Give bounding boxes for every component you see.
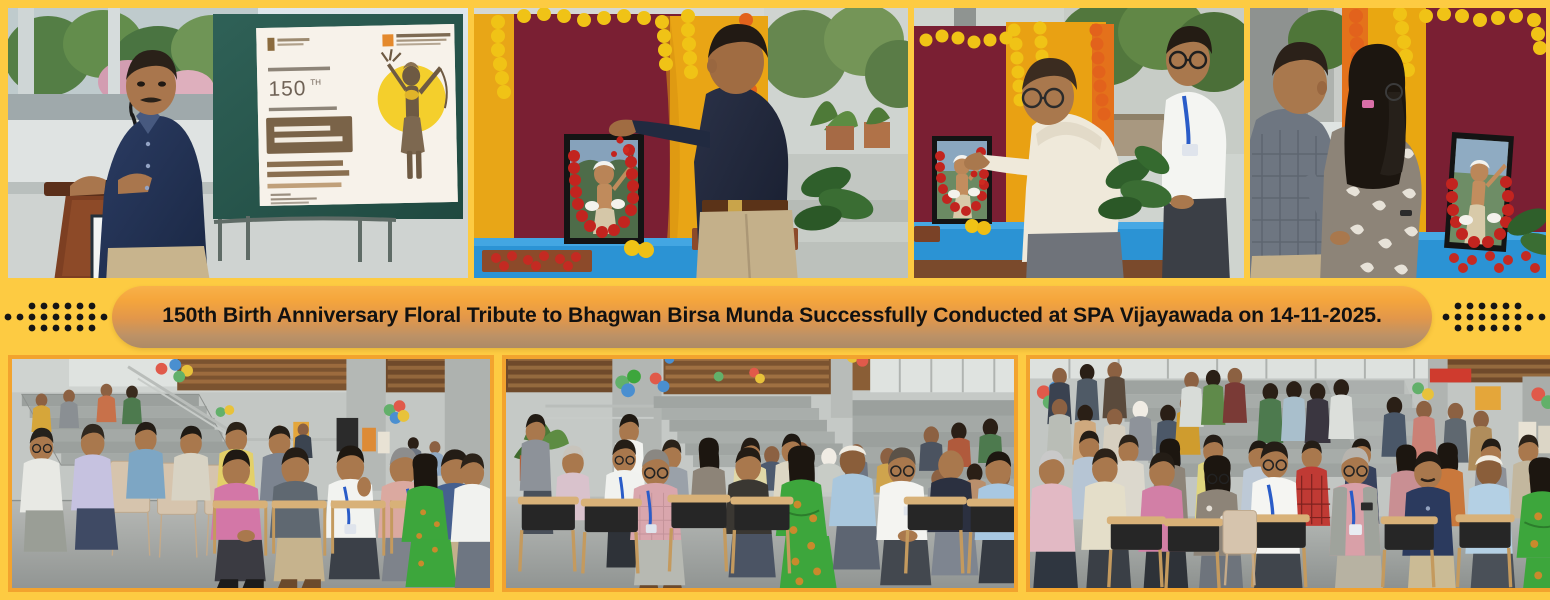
photo-audience-left[interactable]: [8, 355, 494, 592]
photo-director-address-image: 150 TH: [8, 8, 468, 278]
diamond-dot-ornament-right: [1438, 295, 1548, 339]
dot-pattern-icon: [2, 295, 112, 339]
photo-floral-tribute-2[interactable]: [914, 8, 1244, 278]
photo-floral-tribute-1[interactable]: [474, 8, 908, 278]
diamond-dot-ornament-left: [2, 295, 112, 339]
caption-pill: 150th Birth Anniversary Floral Tribute t…: [112, 286, 1432, 348]
dot-pattern-icon: [1438, 295, 1548, 339]
photo-gathering-standing-image: [1030, 359, 1550, 588]
svg-text:150: 150: [268, 77, 307, 101]
photo-audience-centre[interactable]: [502, 355, 1018, 592]
photo-audience-left-image: [12, 359, 490, 588]
top-photo-row: 150 TH: [0, 0, 1550, 278]
photo-director-address[interactable]: 150 TH: [8, 8, 468, 278]
photo-gathering-standing[interactable]: [1026, 355, 1550, 592]
poster-collage: 150 TH: [0, 0, 1550, 600]
svg-text:TH: TH: [310, 78, 321, 87]
photo-floral-tribute-3-image: [1250, 8, 1546, 278]
photo-floral-tribute-3[interactable]: [1250, 8, 1546, 278]
photo-floral-tribute-2-image: [914, 8, 1244, 278]
bottom-photo-row: [0, 355, 1550, 600]
photo-floral-tribute-1-image: [474, 8, 908, 278]
caption-text: 150th Birth Anniversary Floral Tribute t…: [162, 303, 1381, 328]
photo-audience-centre-image: [506, 359, 1014, 588]
caption-band: 150th Birth Anniversary Floral Tribute t…: [0, 278, 1550, 355]
